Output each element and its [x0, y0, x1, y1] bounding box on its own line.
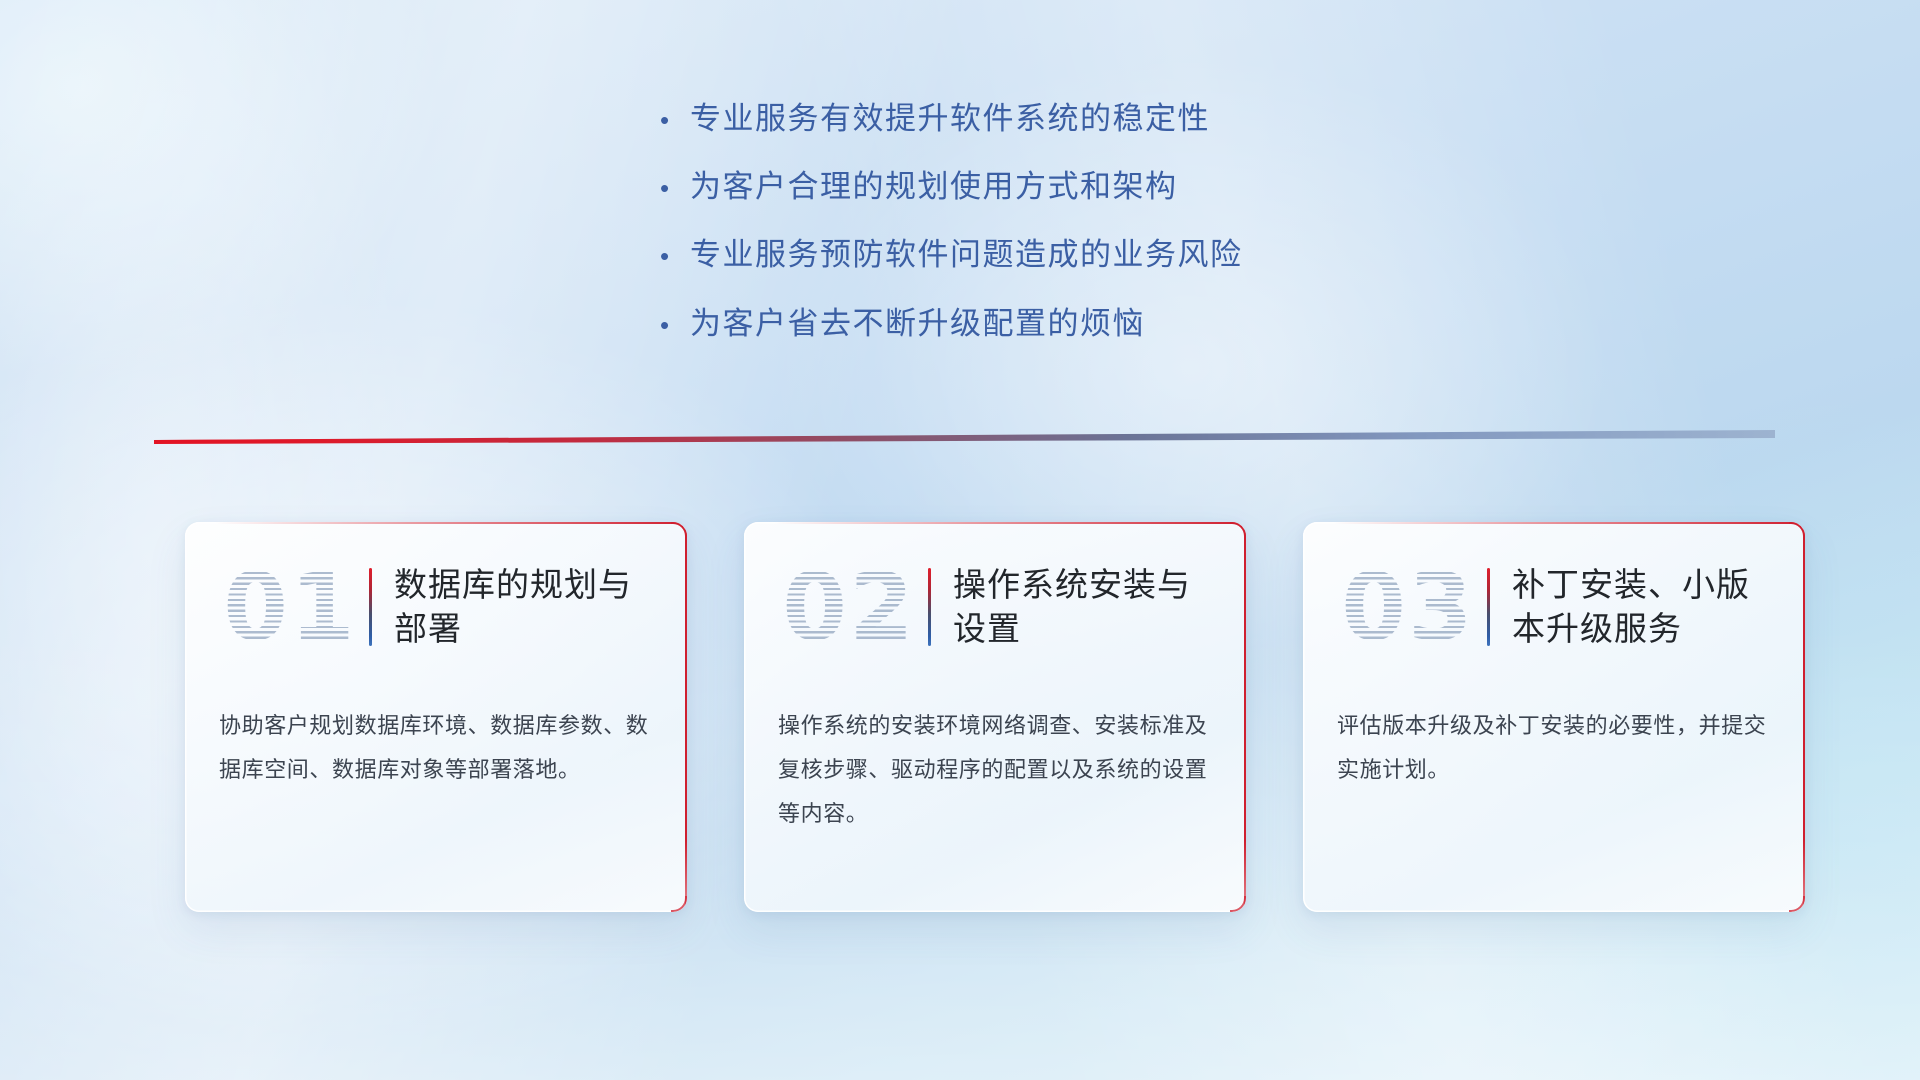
bullet-text: 专业服务预防软件问题造成的业务风险	[690, 236, 1243, 273]
bullet-text: 为客户省去不断升级配置的烦恼	[690, 305, 1145, 342]
card-number: 03	[1333, 561, 1483, 654]
bullet-dot-icon: •	[660, 107, 690, 133]
list-item: • 为客户合理的规划使用方式和架构	[660, 168, 1243, 205]
card-header: 01 数据库的规划与部署	[185, 522, 687, 692]
card-title: 操作系统安装与设置	[953, 563, 1212, 650]
card-header: 02 操作系统安装与设置	[744, 522, 1246, 692]
card-description: 操作系统的安装环境网络调查、安装标准及复核步骤、驱动程序的配置以及系统的设置等内…	[744, 692, 1246, 836]
service-card-03[interactable]: 03 补丁安装、小版本升级服务 评估版本升级及补丁安装的必要性，并提交实施计划。	[1303, 522, 1805, 912]
bullet-dot-icon: •	[660, 175, 690, 201]
bullet-text: 为客户合理的规划使用方式和架构	[690, 168, 1178, 205]
service-card-02[interactable]: 02 操作系统安装与设置 操作系统的安装环境网络调查、安装标准及复核步骤、驱动程…	[744, 522, 1246, 912]
service-card-01[interactable]: 01 数据库的规划与部署 协助客户规划数据库环境、数据库参数、数据库空间、数据库…	[185, 522, 687, 912]
card-divider-bar	[1487, 568, 1490, 646]
bullet-dot-icon: •	[660, 312, 690, 338]
bullet-dot-icon: •	[660, 243, 690, 269]
card-number: 01	[215, 561, 365, 654]
card-title: 数据库的规划与部署	[394, 563, 653, 650]
service-cards-row: 01 数据库的规划与部署 协助客户规划数据库环境、数据库参数、数据库空间、数据库…	[185, 522, 1805, 912]
card-number: 02	[774, 561, 924, 654]
list-item: • 为客户省去不断升级配置的烦恼	[660, 305, 1243, 342]
list-item: • 专业服务预防软件问题造成的业务风险	[660, 236, 1243, 273]
list-item: • 专业服务有效提升软件系统的稳定性	[660, 100, 1243, 137]
card-title: 补丁安装、小版本升级服务	[1512, 563, 1771, 650]
bullet-text: 专业服务有效提升软件系统的稳定性	[690, 100, 1210, 137]
card-description: 协助客户规划数据库环境、数据库参数、数据库空间、数据库对象等部署落地。	[185, 692, 687, 792]
card-header: 03 补丁安装、小版本升级服务	[1303, 522, 1805, 692]
card-description: 评估版本升级及补丁安装的必要性，并提交实施计划。	[1303, 692, 1805, 792]
tapered-rule-icon	[150, 415, 1775, 451]
card-divider-bar	[369, 568, 372, 646]
benefits-bullet-list: • 专业服务有效提升软件系统的稳定性 • 为客户合理的规划使用方式和架构 • 专…	[660, 100, 1243, 373]
slide-canvas: • 专业服务有效提升软件系统的稳定性 • 为客户合理的规划使用方式和架构 • 专…	[0, 0, 1920, 1080]
card-divider-bar	[928, 568, 931, 646]
section-divider	[150, 415, 1775, 451]
